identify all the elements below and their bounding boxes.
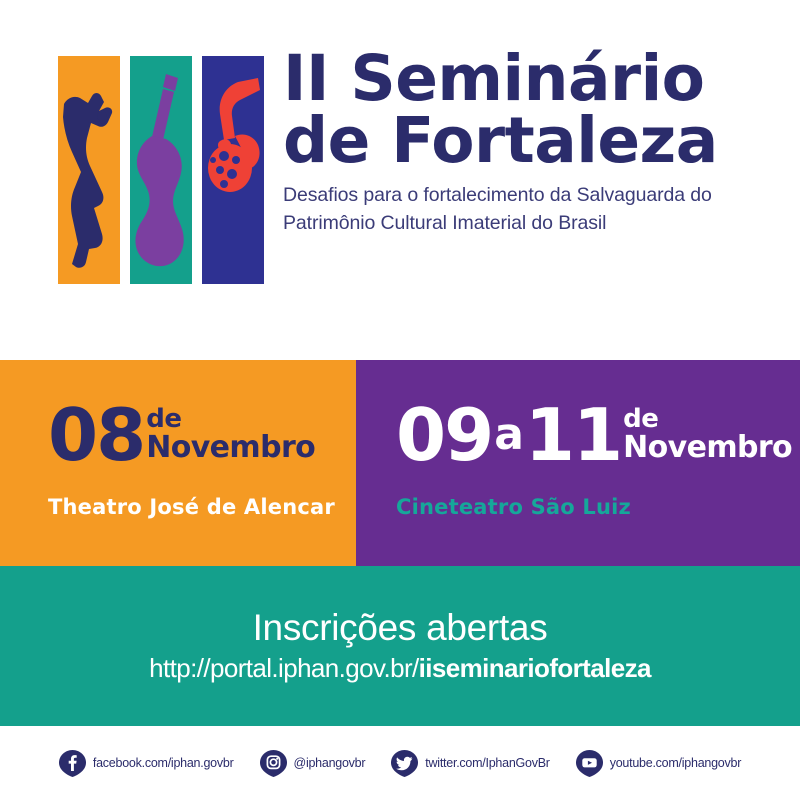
instagram-icon — [260, 750, 287, 777]
date-bands: 08 de Novembro Theatro José de Alencar 0… — [0, 360, 800, 566]
poster-header: II Seminário de Fortaleza Desafios para … — [0, 0, 800, 360]
orange-date-block: 08 de Novembro Theatro José de Alencar — [0, 360, 356, 566]
day-number-start: 08 — [48, 405, 144, 465]
date-de-label: de — [146, 407, 315, 432]
registration-url[interactable]: http://portal.iphan.gov.br/iiseminariofo… — [149, 653, 651, 684]
title-block: II Seminário de Fortaleza Desafios para … — [283, 48, 783, 238]
date-month-label: Novembro — [146, 432, 315, 464]
registration-url-slug: iiseminariofortaleza — [419, 653, 651, 683]
social-link-instagram[interactable]: @iphangovbr — [260, 750, 366, 777]
capoeira-dancer-icon — [58, 56, 120, 284]
event-poster: II Seminário de Fortaleza Desafios para … — [0, 0, 800, 800]
facebook-icon — [59, 750, 86, 777]
social-link-facebook[interactable]: facebook.com/iphan.govbr — [59, 750, 234, 777]
social-footer: facebook.com/iphan.govbr @iphangovbr — [0, 726, 800, 800]
seminar-logo — [58, 56, 266, 284]
day-number-start: 09 — [396, 405, 492, 465]
poster-subtitle-line-2: Patrimônio Cultural Imaterial do Brasil — [283, 210, 783, 238]
purple-date-block: 09 a 11 de Novembro Cineteatro São Luiz — [356, 360, 800, 566]
date-words-purple: de Novembro — [623, 405, 792, 463]
date-month-label: Novembro — [623, 432, 792, 464]
social-link-twitter[interactable]: twitter.com/IphanGovBr — [391, 750, 549, 777]
poster-subtitle: Desafios para o fortalecimento da Salvag… — [283, 182, 783, 237]
date-row-purple: 09 a 11 de Novembro — [396, 405, 792, 465]
poster-subtitle-line-1: Desafios para o fortalecimento da Salvag… — [283, 182, 783, 210]
twitter-icon — [391, 750, 418, 777]
social-label-instagram: @iphangovbr — [294, 756, 366, 770]
viola-guitar-icon — [130, 56, 192, 284]
date-row-orange: 08 de Novembro — [48, 405, 315, 465]
social-label-facebook: facebook.com/iphan.govbr — [93, 756, 234, 770]
viola-guitar-panel — [130, 56, 192, 284]
capoeira-dancer-panel — [58, 56, 120, 284]
social-link-youtube[interactable]: youtube.com/iphangovbr — [576, 750, 741, 777]
registration-title: Inscrições abertas — [253, 608, 548, 649]
berimbau-panel — [202, 56, 264, 284]
venue-name-purple: Cineteatro São Luiz — [396, 495, 631, 519]
poster-title-line-2: de Fortaleza — [283, 110, 783, 172]
day-number-end: 11 — [525, 405, 621, 465]
berimbau-icon — [202, 56, 264, 284]
social-label-twitter: twitter.com/IphanGovBr — [425, 756, 549, 770]
poster-title-line-1: II Seminário — [283, 48, 783, 110]
date-range-separator: a — [492, 405, 525, 464]
venue-name-orange: Theatro José de Alencar — [48, 495, 335, 519]
youtube-icon — [576, 750, 603, 777]
social-label-youtube: youtube.com/iphangovbr — [610, 756, 741, 770]
registration-band: Inscrições abertas http://portal.iphan.g… — [0, 566, 800, 726]
date-de-label: de — [623, 407, 792, 432]
registration-url-prefix: http://portal.iphan.gov.br/ — [149, 653, 419, 683]
date-words-orange: de Novembro — [146, 405, 315, 463]
